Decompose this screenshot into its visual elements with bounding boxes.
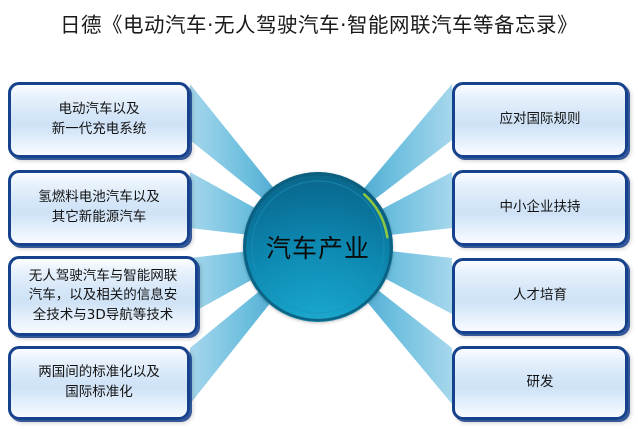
node-sme-support[interactable]: 中小企业扶持: [452, 170, 628, 246]
hub-label: 汽车产业: [243, 172, 393, 322]
node-label: 无人驾驶汽车与智能网联 汽车，以及相关的信息安 全技术与3D导航等技术: [21, 267, 186, 326]
node-talent-cultivation[interactable]: 人才培育: [452, 258, 628, 334]
node-research-development[interactable]: 研发: [452, 346, 628, 420]
node-ev-charging[interactable]: 电动汽车以及 新一代充电系统: [8, 82, 190, 158]
node-label: 电动汽车以及 新一代充电系统: [44, 100, 155, 139]
hub-circle[interactable]: 汽车产业: [243, 172, 393, 322]
node-international-rules[interactable]: 应对国际规则: [452, 82, 628, 158]
node-label: 应对国际规则: [492, 110, 589, 130]
node-standardization[interactable]: 两国间的标准化以及 国际标准化: [8, 346, 190, 420]
node-autonomous-connected[interactable]: 无人驾驶汽车与智能网联 汽车，以及相关的信息安 全技术与3D导航等技术: [8, 256, 198, 336]
node-label: 中小企业扶持: [492, 198, 589, 218]
node-label: 两国间的标准化以及 国际标准化: [30, 363, 168, 402]
node-label: 研发: [519, 373, 562, 393]
node-hydrogen-fuel-cell[interactable]: 氢燃料电池汽车以及 其它新能源汽车: [8, 170, 190, 246]
infographic-canvas: 日德《电动汽车·无人驾驶汽车·智能网联汽车等备忘录》: [0, 0, 638, 429]
node-label: 人才培育: [505, 286, 575, 306]
node-label: 氢燃料电池汽车以及 其它新能源汽车: [30, 188, 168, 227]
